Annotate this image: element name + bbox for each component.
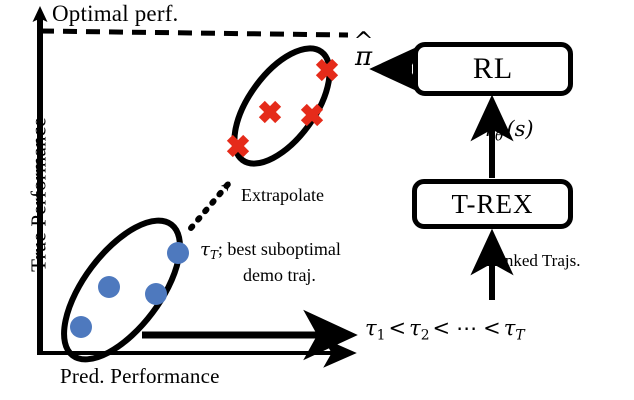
extrapolate-label: Extrapolate: [241, 186, 324, 204]
policy-cluster-ellipse: [216, 32, 348, 179]
optimal-performance-label: Optimal perf.: [52, 2, 179, 25]
tau-2: τ2: [409, 316, 429, 340]
reward-hat-accent: ^: [482, 107, 498, 126]
policy-hat-label: ^π: [355, 44, 372, 70]
tau-demo-symbol: τT: [200, 239, 218, 260]
reward-argument: (s): [503, 117, 536, 141]
trex-node[interactable]: T-REX: [412, 179, 573, 229]
rl-node[interactable]: RL: [413, 42, 573, 96]
optimal-performance-line: [40, 31, 348, 35]
less-than-3: <: [480, 316, 504, 340]
x-axis-label: Pred. Performance: [60, 366, 220, 387]
less-than-2: <: [430, 316, 454, 340]
figure-canvas: True Performance Pred. Performance Optim…: [0, 0, 634, 400]
demo-trajectory-label: τT; best suboptimaldemo traj.: [200, 237, 341, 287]
tau-1: τ1: [365, 316, 385, 340]
rl-node-label: RL: [473, 52, 513, 86]
reward-function-label: ^rθ(s): [485, 119, 537, 144]
demo-trajectory-text-line1: ; best suboptimal: [218, 239, 341, 259]
ranked-trajectory-sequence: τ1<τ2<⋯<τT: [365, 318, 525, 343]
y-axis-label: True Performance: [29, 70, 50, 320]
demo-data-points: [70, 242, 189, 338]
tau-T: τT: [504, 316, 525, 340]
less-than-1: <: [385, 316, 409, 340]
ranked-trajectories-label: Ranked Trajs.: [486, 252, 580, 269]
extrapolate-arrow: [191, 183, 229, 228]
policy-hat-accent: ^: [354, 30, 374, 54]
demo-trajectory-text-line2: demo traj.: [200, 263, 341, 287]
trex-node-label: T-REX: [451, 189, 533, 220]
sequence-ellipsis: ⋯: [453, 316, 480, 340]
